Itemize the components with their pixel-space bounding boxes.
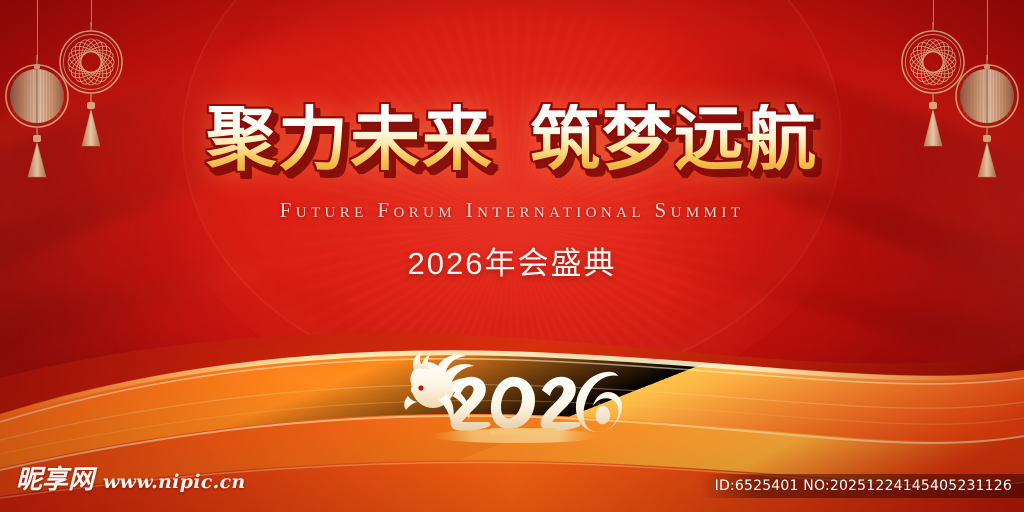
- watermark-url: www.nipic.cn: [103, 471, 245, 493]
- main-title-right: 筑梦远航: [530, 104, 818, 174]
- year-numerals: [451, 372, 622, 432]
- ornament-cord: [987, 0, 988, 60]
- site-watermark: 昵享网 www.nipic.cn: [16, 459, 246, 496]
- watermark-brand: 昵享网: [16, 459, 94, 496]
- year-emblem-2026: [394, 344, 630, 448]
- asset-id-badge: ID:6525401 NO:20251224145405231126: [699, 474, 1024, 498]
- ornament-cord: [37, 0, 38, 60]
- subtitle-chinese: 2026年会盛典: [0, 238, 1024, 283]
- subtitle-english: Future Forum International Summit: [0, 198, 1024, 223]
- poster-canvas: 聚力未来筑梦远航 Future Forum International Summ…: [0, 0, 1024, 512]
- main-title: 聚力未来筑梦远航: [0, 104, 1024, 174]
- main-title-left: 聚力未来: [206, 104, 494, 174]
